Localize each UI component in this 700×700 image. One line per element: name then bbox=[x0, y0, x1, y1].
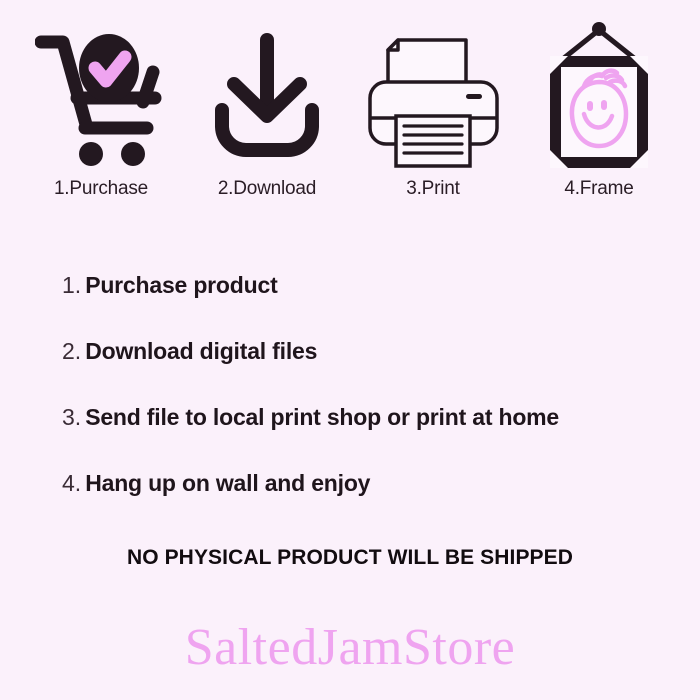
step-label: 1.Purchase bbox=[54, 178, 148, 200]
instruction-text: Send file to local print shop or print a… bbox=[85, 404, 559, 431]
instruction-number: 2. bbox=[62, 338, 81, 365]
step-download: 2.Download bbox=[192, 15, 342, 200]
step-label: 3.Print bbox=[406, 178, 460, 200]
shopping-cart-check-icon bbox=[35, 32, 167, 172]
step-label: 2.Download bbox=[218, 178, 316, 200]
step-frame: 4.Frame bbox=[524, 15, 674, 200]
no-physical-product-disclaimer: NO PHYSICAL PRODUCT WILL BE SHIPPED bbox=[0, 546, 700, 570]
printer-icon bbox=[366, 32, 501, 172]
listing-instructions-graphic: 1.Purchase 2.Download bbox=[0, 0, 700, 700]
step-print: 3.Print bbox=[358, 15, 508, 200]
instruction-number: 4. bbox=[62, 470, 81, 497]
instruction-number: 3. bbox=[62, 404, 81, 431]
step-purchase: 1.Purchase bbox=[26, 15, 176, 200]
store-brand-name: SaltedJamStore bbox=[0, 618, 700, 677]
instruction-list: 1. Purchase product 2. Download digital … bbox=[62, 272, 662, 536]
instruction-item-1: 1. Purchase product bbox=[62, 272, 662, 338]
instruction-item-2: 2. Download digital files bbox=[62, 338, 662, 404]
hanging-picture-frame-icon bbox=[540, 32, 658, 172]
instruction-number: 1. bbox=[62, 272, 81, 299]
step-icon-strip: 1.Purchase 2.Download bbox=[0, 0, 700, 200]
download-arrow-tray-icon bbox=[212, 32, 322, 172]
instruction-item-4: 4. Hang up on wall and enjoy bbox=[62, 470, 662, 536]
instruction-text: Purchase product bbox=[85, 272, 277, 299]
instruction-text: Hang up on wall and enjoy bbox=[85, 470, 370, 497]
step-label: 4.Frame bbox=[564, 178, 633, 200]
instruction-text: Download digital files bbox=[85, 338, 317, 365]
instruction-item-3: 3. Send file to local print shop or prin… bbox=[62, 404, 662, 470]
